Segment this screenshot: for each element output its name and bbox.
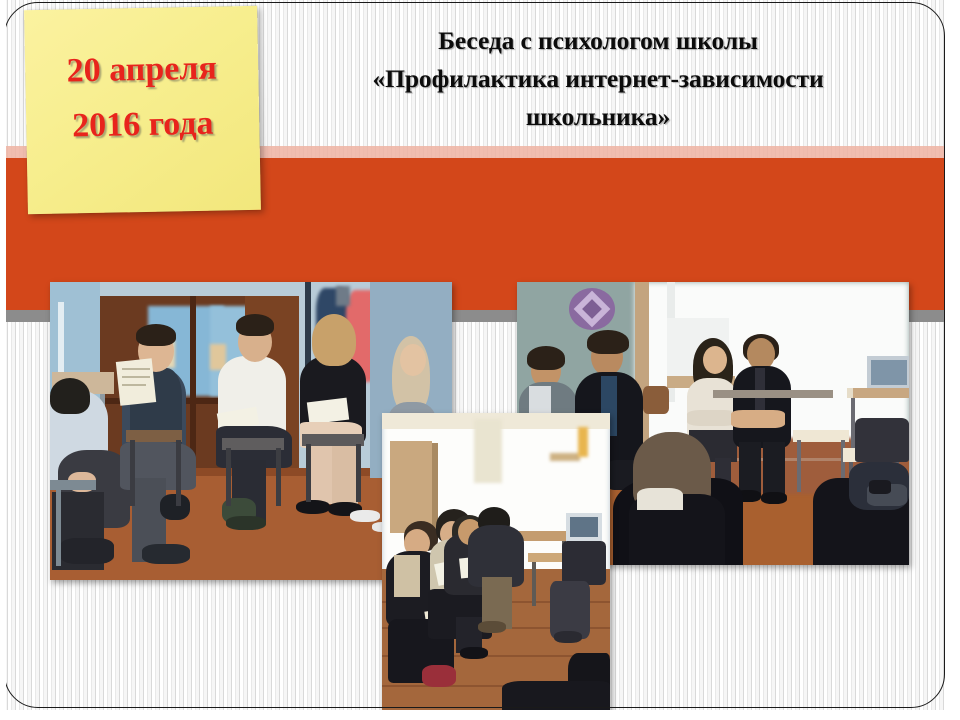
date-sticky-note: 20 апреля 2016 года [20,4,266,216]
slide-title-line-2: «Профилактика интернет-зависимости [268,60,928,98]
slide-title: Беседа с психологом школы «Профилактика … [268,22,928,136]
frame-mask-bottom [0,710,960,720]
photo-center-scene [382,413,610,720]
presentation-slide: Беседа с психологом школы «Профилактика … [0,0,960,720]
photo-students-taking-notes [382,413,610,720]
frame-mask-left [0,0,6,720]
frame-mask-right [947,0,960,720]
sticky-note-paper: 20 апреля 2016 года [24,6,261,214]
sticky-note-text: 20 апреля 2016 года [25,40,260,154]
slide-title-line-1: Беседа с психологом школы [268,22,928,60]
sticky-note-line-2: 2016 года [26,95,260,154]
slide-title-line-3: школьника» [268,98,928,136]
sticky-note-line-1: 20 апреля [25,40,259,99]
